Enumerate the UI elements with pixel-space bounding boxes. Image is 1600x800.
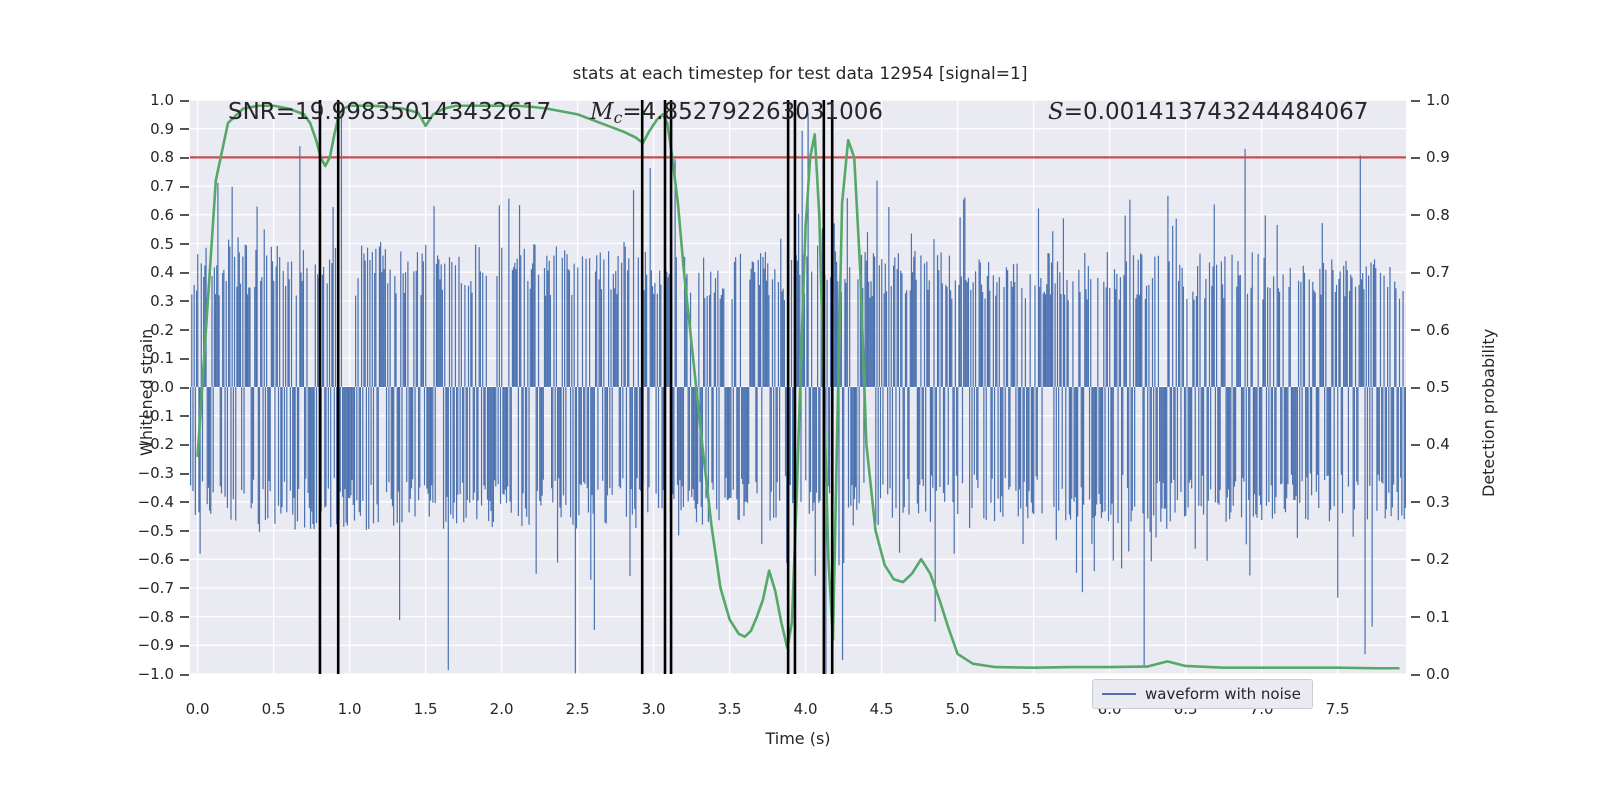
legend[interactable]: waveform with noise	[1092, 679, 1313, 709]
y-tick-right-4: 0.6	[1411, 321, 1450, 339]
y-tick-left-18: −0.8	[138, 608, 189, 626]
y-tick-right-9: 0.1	[1411, 608, 1450, 626]
x-tick-15: 7.5	[1326, 700, 1350, 718]
y-tick-left-8: 0.2	[150, 321, 189, 339]
s-symbol: S	[1048, 99, 1064, 125]
y-tick-right-2: 0.8	[1411, 206, 1450, 224]
plot-area	[190, 100, 1406, 674]
x-tick-2: 1.0	[338, 700, 362, 718]
y-tick-left-9: 0.1	[150, 349, 189, 367]
annotation-score: S=0.001413743244484067	[1048, 99, 1368, 125]
y-tick-right-3: 0.7	[1411, 263, 1450, 281]
x-tick-0: 0.0	[186, 700, 210, 718]
y-tick-right-8: 0.2	[1411, 550, 1450, 568]
y-tick-left-19: −0.9	[138, 636, 189, 654]
y-tick-left-6: 0.4	[150, 263, 189, 281]
annotation-snr: SNR=19.998350143432617	[228, 99, 551, 125]
x-tick-6: 3.0	[642, 700, 666, 718]
legend-label: waveform with noise	[1145, 685, 1301, 703]
y-tick-left-14: −0.4	[138, 493, 189, 511]
y-tick-left-2: 0.8	[150, 148, 189, 166]
y-tick-left-7: 0.3	[150, 292, 189, 310]
y-tick-left-20: −1.0	[138, 665, 189, 683]
x-tick-8: 4.0	[794, 700, 818, 718]
x-tick-11: 5.5	[1022, 700, 1046, 718]
y-tick-left-13: −0.3	[138, 464, 189, 482]
x-tick-9: 4.5	[870, 700, 894, 718]
y-tick-left-3: 0.7	[150, 177, 189, 195]
x-tick-7: 3.5	[718, 700, 742, 718]
chart-title: stats at each timestep for test data 129…	[0, 64, 1600, 84]
y-axis-label-right: Detection probability	[1479, 329, 1498, 497]
x-tick-3: 1.5	[414, 700, 438, 718]
s-value: =0.001413743244484067	[1064, 99, 1369, 125]
y-tick-left-16: −0.6	[138, 550, 189, 568]
mc-subscript: c	[614, 108, 623, 127]
y-tick-right-6: 0.4	[1411, 435, 1450, 453]
y-tick-right-1: 0.9	[1411, 148, 1450, 166]
y-tick-left-5: 0.5	[150, 235, 189, 253]
x-tick-10: 5.0	[946, 700, 970, 718]
y-tick-left-1: 0.9	[150, 120, 189, 138]
mc-value: =4.852792263031006	[622, 99, 883, 125]
marker-layer	[190, 100, 1406, 674]
x-axis-label: Time (s)	[190, 729, 1406, 748]
y-tick-right-5: 0.5	[1411, 378, 1450, 396]
annotation-chirp-mass: Mc=4.852792263031006	[590, 99, 883, 127]
mc-symbol: M	[590, 99, 614, 125]
y-tick-left-12: −0.2	[138, 435, 189, 453]
y-tick-left-15: −0.5	[138, 522, 189, 540]
y-tick-right-0: 1.0	[1411, 91, 1450, 109]
y-tick-left-0: 1.0	[150, 91, 189, 109]
x-tick-4: 2.0	[490, 700, 514, 718]
y-tick-left-11: −0.1	[138, 407, 189, 425]
y-tick-right-7: 0.3	[1411, 493, 1450, 511]
y-tick-left-17: −0.7	[138, 579, 189, 597]
y-tick-right-10: 0.0	[1411, 665, 1450, 683]
y-tick-left-4: 0.6	[150, 206, 189, 224]
x-tick-5: 2.5	[566, 700, 590, 718]
y-tick-left-10: 0.0	[150, 378, 189, 396]
legend-line-swatch	[1102, 693, 1136, 695]
figure: stats at each timestep for test data 129…	[0, 0, 1600, 800]
x-tick-1: 0.5	[262, 700, 286, 718]
